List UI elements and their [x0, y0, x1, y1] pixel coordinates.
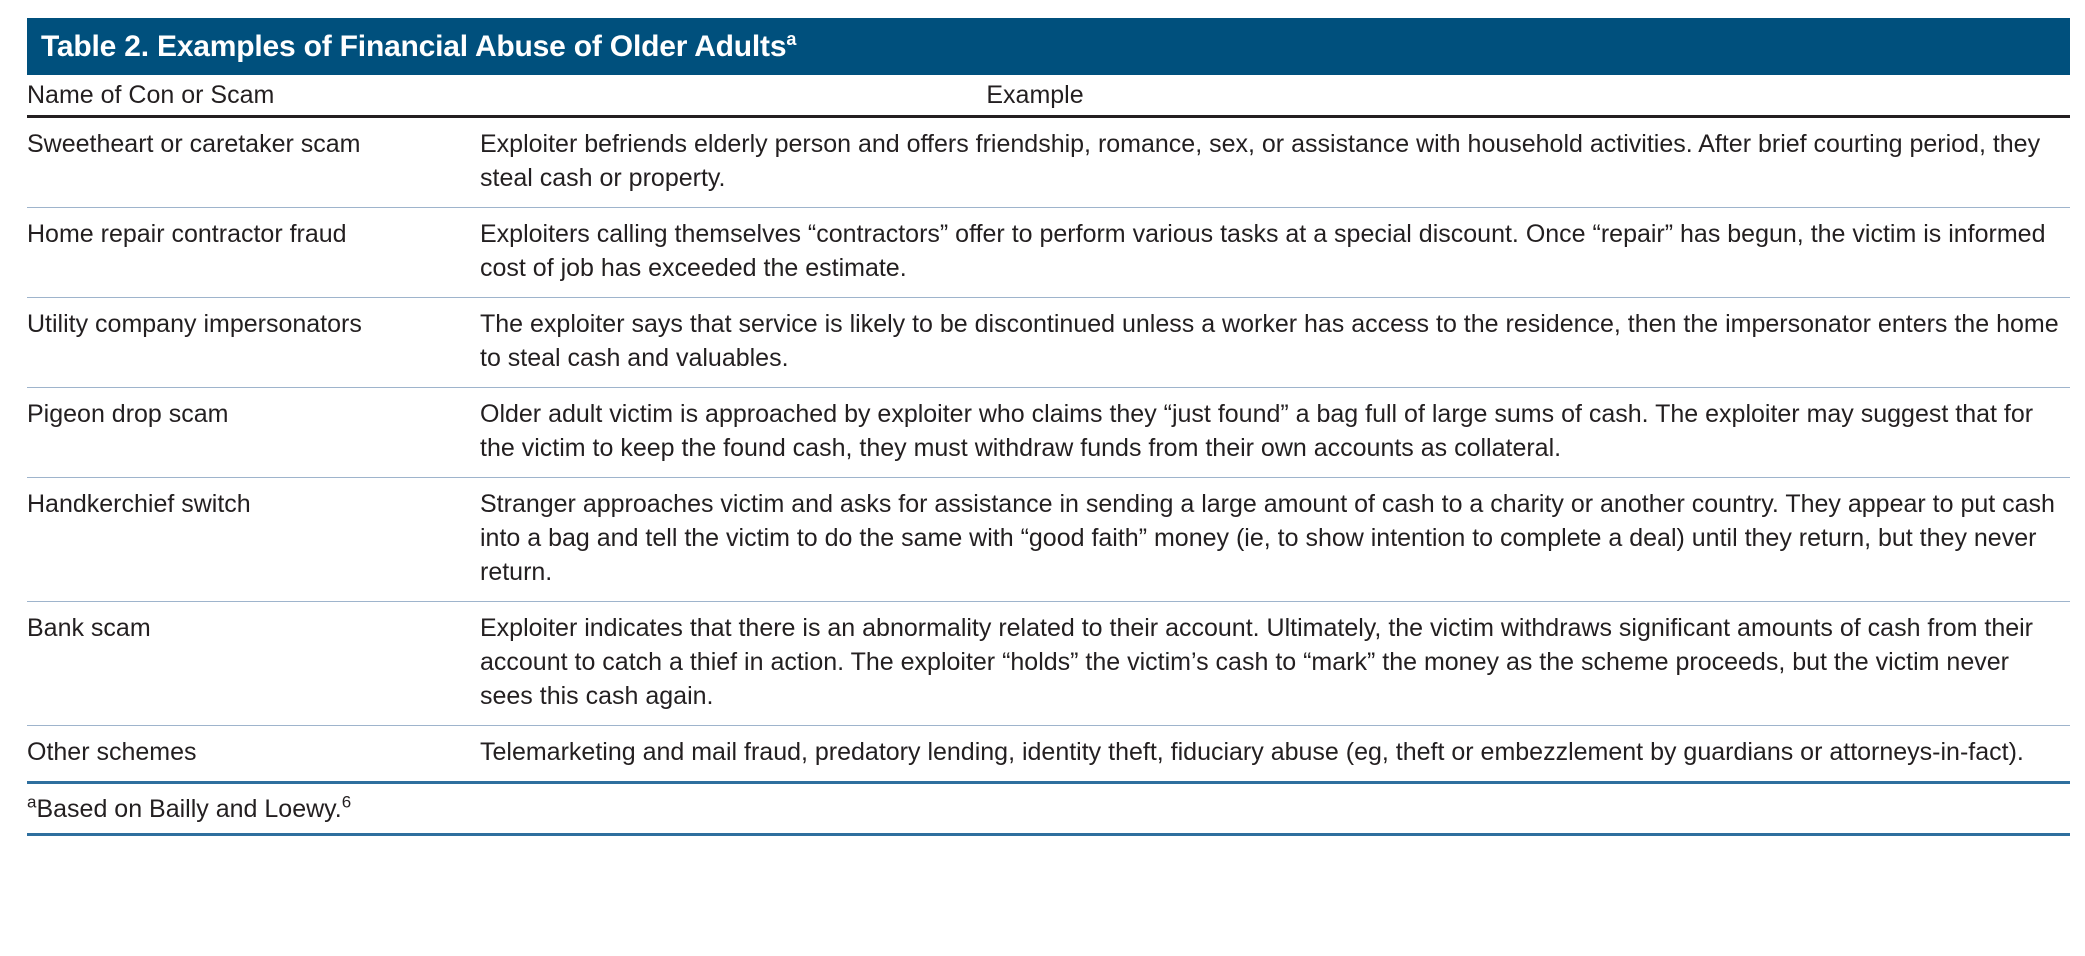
- table-row: Other schemes Telemarketing and mail fra…: [27, 726, 2070, 781]
- row-example: Exploiters calling themselves “contracto…: [480, 217, 2070, 285]
- row-example: The exploiter says that service is likel…: [480, 307, 2070, 375]
- row-example: Older adult victim is approached by expl…: [480, 397, 2070, 465]
- row-example: Exploiter indicates that there is an abn…: [480, 611, 2070, 713]
- table-title-text: Table 2. Examples of Financial Abuse of …: [41, 30, 786, 63]
- row-name: Sweetheart or caretaker scam: [27, 127, 480, 195]
- table-row: Pigeon drop scam Older adult victim is a…: [27, 388, 2070, 478]
- column-header-row: Name of Con or Scam Example: [27, 75, 2070, 118]
- row-name: Pigeon drop scam: [27, 397, 480, 465]
- row-name: Utility company impersonators: [27, 307, 480, 375]
- table-title-bar: Table 2. Examples of Financial Abuse of …: [27, 18, 2070, 75]
- row-name: Handkerchief switch: [27, 487, 480, 589]
- table-container: Table 2. Examples of Financial Abuse of …: [27, 18, 2070, 836]
- table-footnote: aBased on Bailly and Loewy.6: [27, 784, 2070, 836]
- footnote-reference: 6: [342, 793, 351, 812]
- page-title: Table 2. Examples of Financial Abuse of …: [41, 32, 796, 62]
- row-example: Stranger approaches victim and asks for …: [480, 487, 2070, 589]
- row-name: Home repair contractor fraud: [27, 217, 480, 285]
- column-header-example: Example: [480, 81, 2070, 110]
- row-name: Other schemes: [27, 735, 480, 769]
- table-row: Bank scam Exploiter indicates that there…: [27, 602, 2070, 726]
- column-header-name: Name of Con or Scam: [27, 81, 480, 110]
- table-row: Handkerchief switch Stranger approaches …: [27, 478, 2070, 602]
- row-example: Exploiter befriends elderly person and o…: [480, 127, 2070, 195]
- table-title-footnote-marker: a: [786, 29, 796, 49]
- row-example: Telemarketing and mail fraud, predatory …: [480, 735, 2070, 769]
- table-row: Utility company impersonators The exploi…: [27, 298, 2070, 388]
- footnote-text: Based on Bailly and Loewy.: [36, 795, 341, 823]
- row-name: Bank scam: [27, 611, 480, 713]
- table-row: Sweetheart or caretaker scam Exploiter b…: [27, 118, 2070, 208]
- table-row: Home repair contractor fraud Exploiters …: [27, 208, 2070, 298]
